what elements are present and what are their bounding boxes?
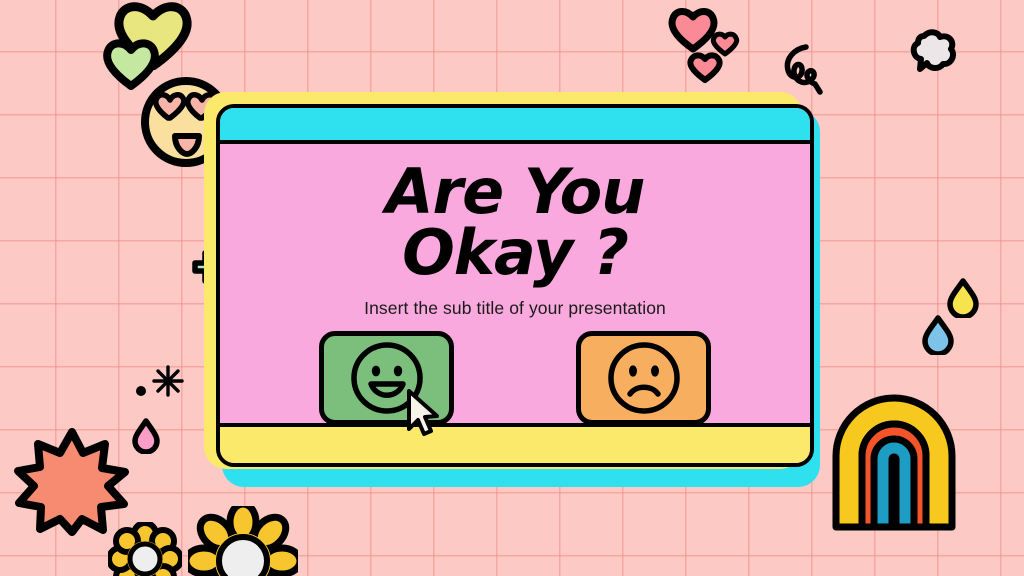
squiggle-doodle-icon xyxy=(782,44,836,96)
page-title-line-2: Okay ? xyxy=(220,223,810,284)
droplet-pink-icon xyxy=(132,418,160,454)
choice-row xyxy=(220,331,810,425)
card-bottom-bar xyxy=(220,423,810,463)
page-title-line-1: Are You xyxy=(220,162,810,223)
starburst-coral-icon xyxy=(12,424,132,536)
dot-small-icon xyxy=(134,384,148,398)
card-body: Are You Okay ? Insert the sub title of y… xyxy=(216,104,814,467)
droplet-blue-icon xyxy=(922,315,954,355)
slide-card[interactable]: Are You Okay ? Insert the sub title of y… xyxy=(204,92,820,487)
smiley-happy-icon xyxy=(349,340,425,416)
sad-face-button[interactable] xyxy=(576,331,711,425)
card-content: Are You Okay ? Insert the sub title of y… xyxy=(220,144,810,423)
droplet-yellow-icon xyxy=(947,278,979,318)
title-block: Are You Okay ? xyxy=(220,144,810,284)
sparkle-asterisk-icon xyxy=(152,365,184,397)
smiley-sad-icon xyxy=(606,340,682,416)
cloud-puff-icon xyxy=(908,28,958,74)
flower-large-icon xyxy=(188,506,298,576)
card-top-bar xyxy=(220,108,810,144)
flower-small-icon xyxy=(108,522,182,576)
rainbow-arc-icon xyxy=(826,383,962,531)
happy-face-button[interactable] xyxy=(319,331,454,425)
heart-pink-small-icon xyxy=(686,50,724,84)
page-subtitle: Insert the sub title of your presentatio… xyxy=(220,298,810,319)
